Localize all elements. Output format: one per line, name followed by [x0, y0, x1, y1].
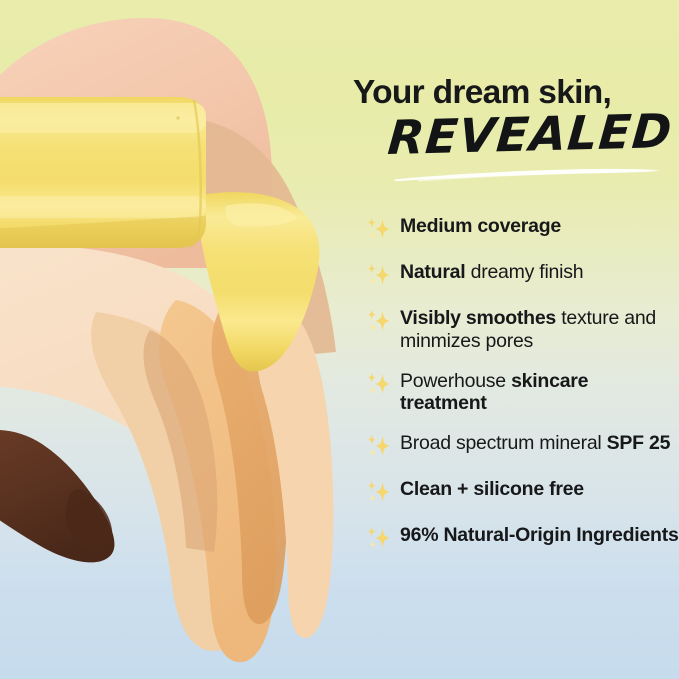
- bullet-segment: Visibly smoothes: [400, 307, 556, 329]
- sparkle-icon: [364, 214, 394, 244]
- feature-bullet-text: Broad spectrum mineral SPF 25: [400, 430, 679, 455]
- feature-bullet-text: 96% Natural-Origin Ingredients: [400, 522, 679, 547]
- headline-line-2: REVEALED: [386, 108, 674, 162]
- tube-speck: [176, 116, 179, 119]
- bullet-segment: SPF 25: [607, 432, 671, 454]
- tube-highlight-top: [0, 103, 206, 133]
- text-column: Your dream skin, REVEALED Medium coverag…: [352, 0, 679, 679]
- bullet-segment: Medium coverage: [400, 215, 561, 237]
- feature-bullet-text: Medium coverage: [400, 213, 679, 238]
- bullet-segment: Broad spectrum mineral: [400, 432, 607, 454]
- bullet-segment: Natural: [400, 261, 465, 283]
- feature-bullet: Natural dreamy finish: [364, 259, 679, 290]
- product-artwork: [0, 0, 345, 679]
- feature-bullet: Medium coverage: [364, 213, 679, 244]
- headline-block: Your dream skin, REVEALED: [352, 76, 679, 177]
- feature-bullet: Powerhouse skincare treatment: [364, 368, 679, 416]
- bullet-segment: Clean + silicone free: [400, 478, 584, 500]
- feature-bullet: 96% Natural-Origin Ingredients: [364, 522, 679, 553]
- sparkle-icon: [364, 306, 394, 336]
- feature-bullet-text: Powerhouse skincare treatment: [400, 368, 679, 416]
- bullet-segment: dreamy finish: [465, 261, 583, 283]
- feature-bullet-text: Visibly smoothes texture and minmizes po…: [400, 305, 679, 353]
- tube-highlight-lower: [0, 196, 206, 218]
- bullet-segment: 96% Natural-Origin Ingredients: [400, 524, 679, 546]
- headline-line-2-wrap: REVEALED: [352, 115, 679, 177]
- sparkle-icon: [364, 260, 394, 290]
- product-feature-graphic: Your dream skin, REVEALED Medium coverag…: [0, 0, 679, 679]
- feature-bullet-text: Clean + silicone free: [400, 476, 679, 501]
- sparkle-icon: [364, 369, 394, 399]
- feature-bullet-text: Natural dreamy finish: [400, 259, 679, 284]
- sparkle-icon: [364, 477, 394, 507]
- brush-underline-swash: [392, 167, 662, 183]
- feature-bullet: Visibly smoothes texture and minmizes po…: [364, 305, 679, 353]
- sparkle-icon: [364, 523, 394, 553]
- bullet-segment: Powerhouse: [400, 370, 511, 392]
- feature-bullet: Broad spectrum mineral SPF 25: [364, 430, 679, 461]
- feature-bullet-list: Medium coverageNatural dreamy finishVisi…: [364, 213, 679, 568]
- feature-bullet: Clean + silicone free: [364, 476, 679, 507]
- sparkle-icon: [364, 431, 394, 461]
